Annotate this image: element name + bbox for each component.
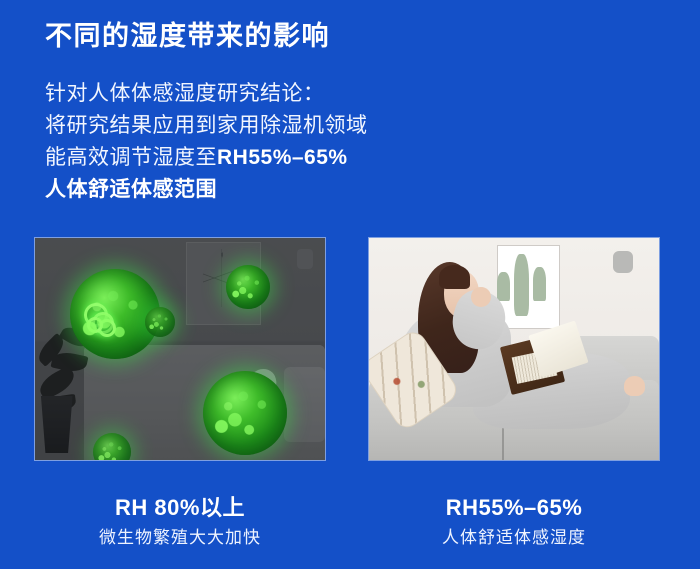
bright-living-room-scene (369, 238, 659, 460)
microbe-colony-ring (87, 317, 103, 333)
microbe-sphere-icon (203, 371, 287, 455)
humidity-infographic-poster: 不同的湿度带来的影响 针对人体体感湿度研究结论： 将研究结果应用到家用除湿机领域… (0, 0, 700, 569)
caption-comfort-humidity: RH55%–65% 人体舒适体感湿度 (368, 494, 660, 550)
caption-sub-high-humidity: 微生物繁殖大大加快 (34, 526, 326, 550)
body-copy-line-1: 针对人体体感湿度研究结论： (45, 78, 465, 110)
caption-sub-comfort-humidity: 人体舒适体感湿度 (368, 526, 660, 550)
microbe-colony-ring (98, 319, 116, 337)
cactus-icon (514, 254, 529, 316)
body-copy-line-3: 能高效调节湿度至RH55%–65% (45, 142, 465, 174)
body-copy-block: 针对人体体感湿度研究结论： 将研究结果应用到家用除湿机领域 能高效调节湿度至RH… (45, 78, 465, 206)
microbe-colony-ring (84, 303, 108, 327)
humidity-range-emphasis: RH55%–65% (217, 146, 348, 169)
woman-hair-front (439, 265, 471, 289)
woman-foot (624, 376, 644, 396)
microbe-sphere-icon (226, 265, 270, 309)
woman-hand (471, 287, 491, 307)
caption-title-comfort-humidity: RH55%–65% (368, 494, 660, 522)
microbe-sphere-icon (145, 307, 175, 337)
page-title: 不同的湿度带来的影响 (45, 20, 330, 54)
dim-living-room-scene (35, 238, 325, 460)
body-copy-line-3-prefix: 能高效调节湿度至 (45, 146, 217, 169)
comparison-panels (0, 237, 700, 461)
panel-high-humidity-image (34, 237, 326, 461)
panel-comfort-humidity-image (368, 237, 660, 461)
wall-speaker-icon (613, 251, 633, 273)
microbe-colony-ring (92, 312, 114, 334)
caption-title-high-humidity: RH 80%以上 (34, 494, 326, 522)
body-copy-line-2: 将研究结果应用到家用除湿机领域 (45, 110, 465, 142)
body-copy-line-4: 人体舒适体感范围 (45, 174, 465, 206)
caption-high-humidity: RH 80%以上 微生物繁殖大大加快 (34, 494, 326, 550)
